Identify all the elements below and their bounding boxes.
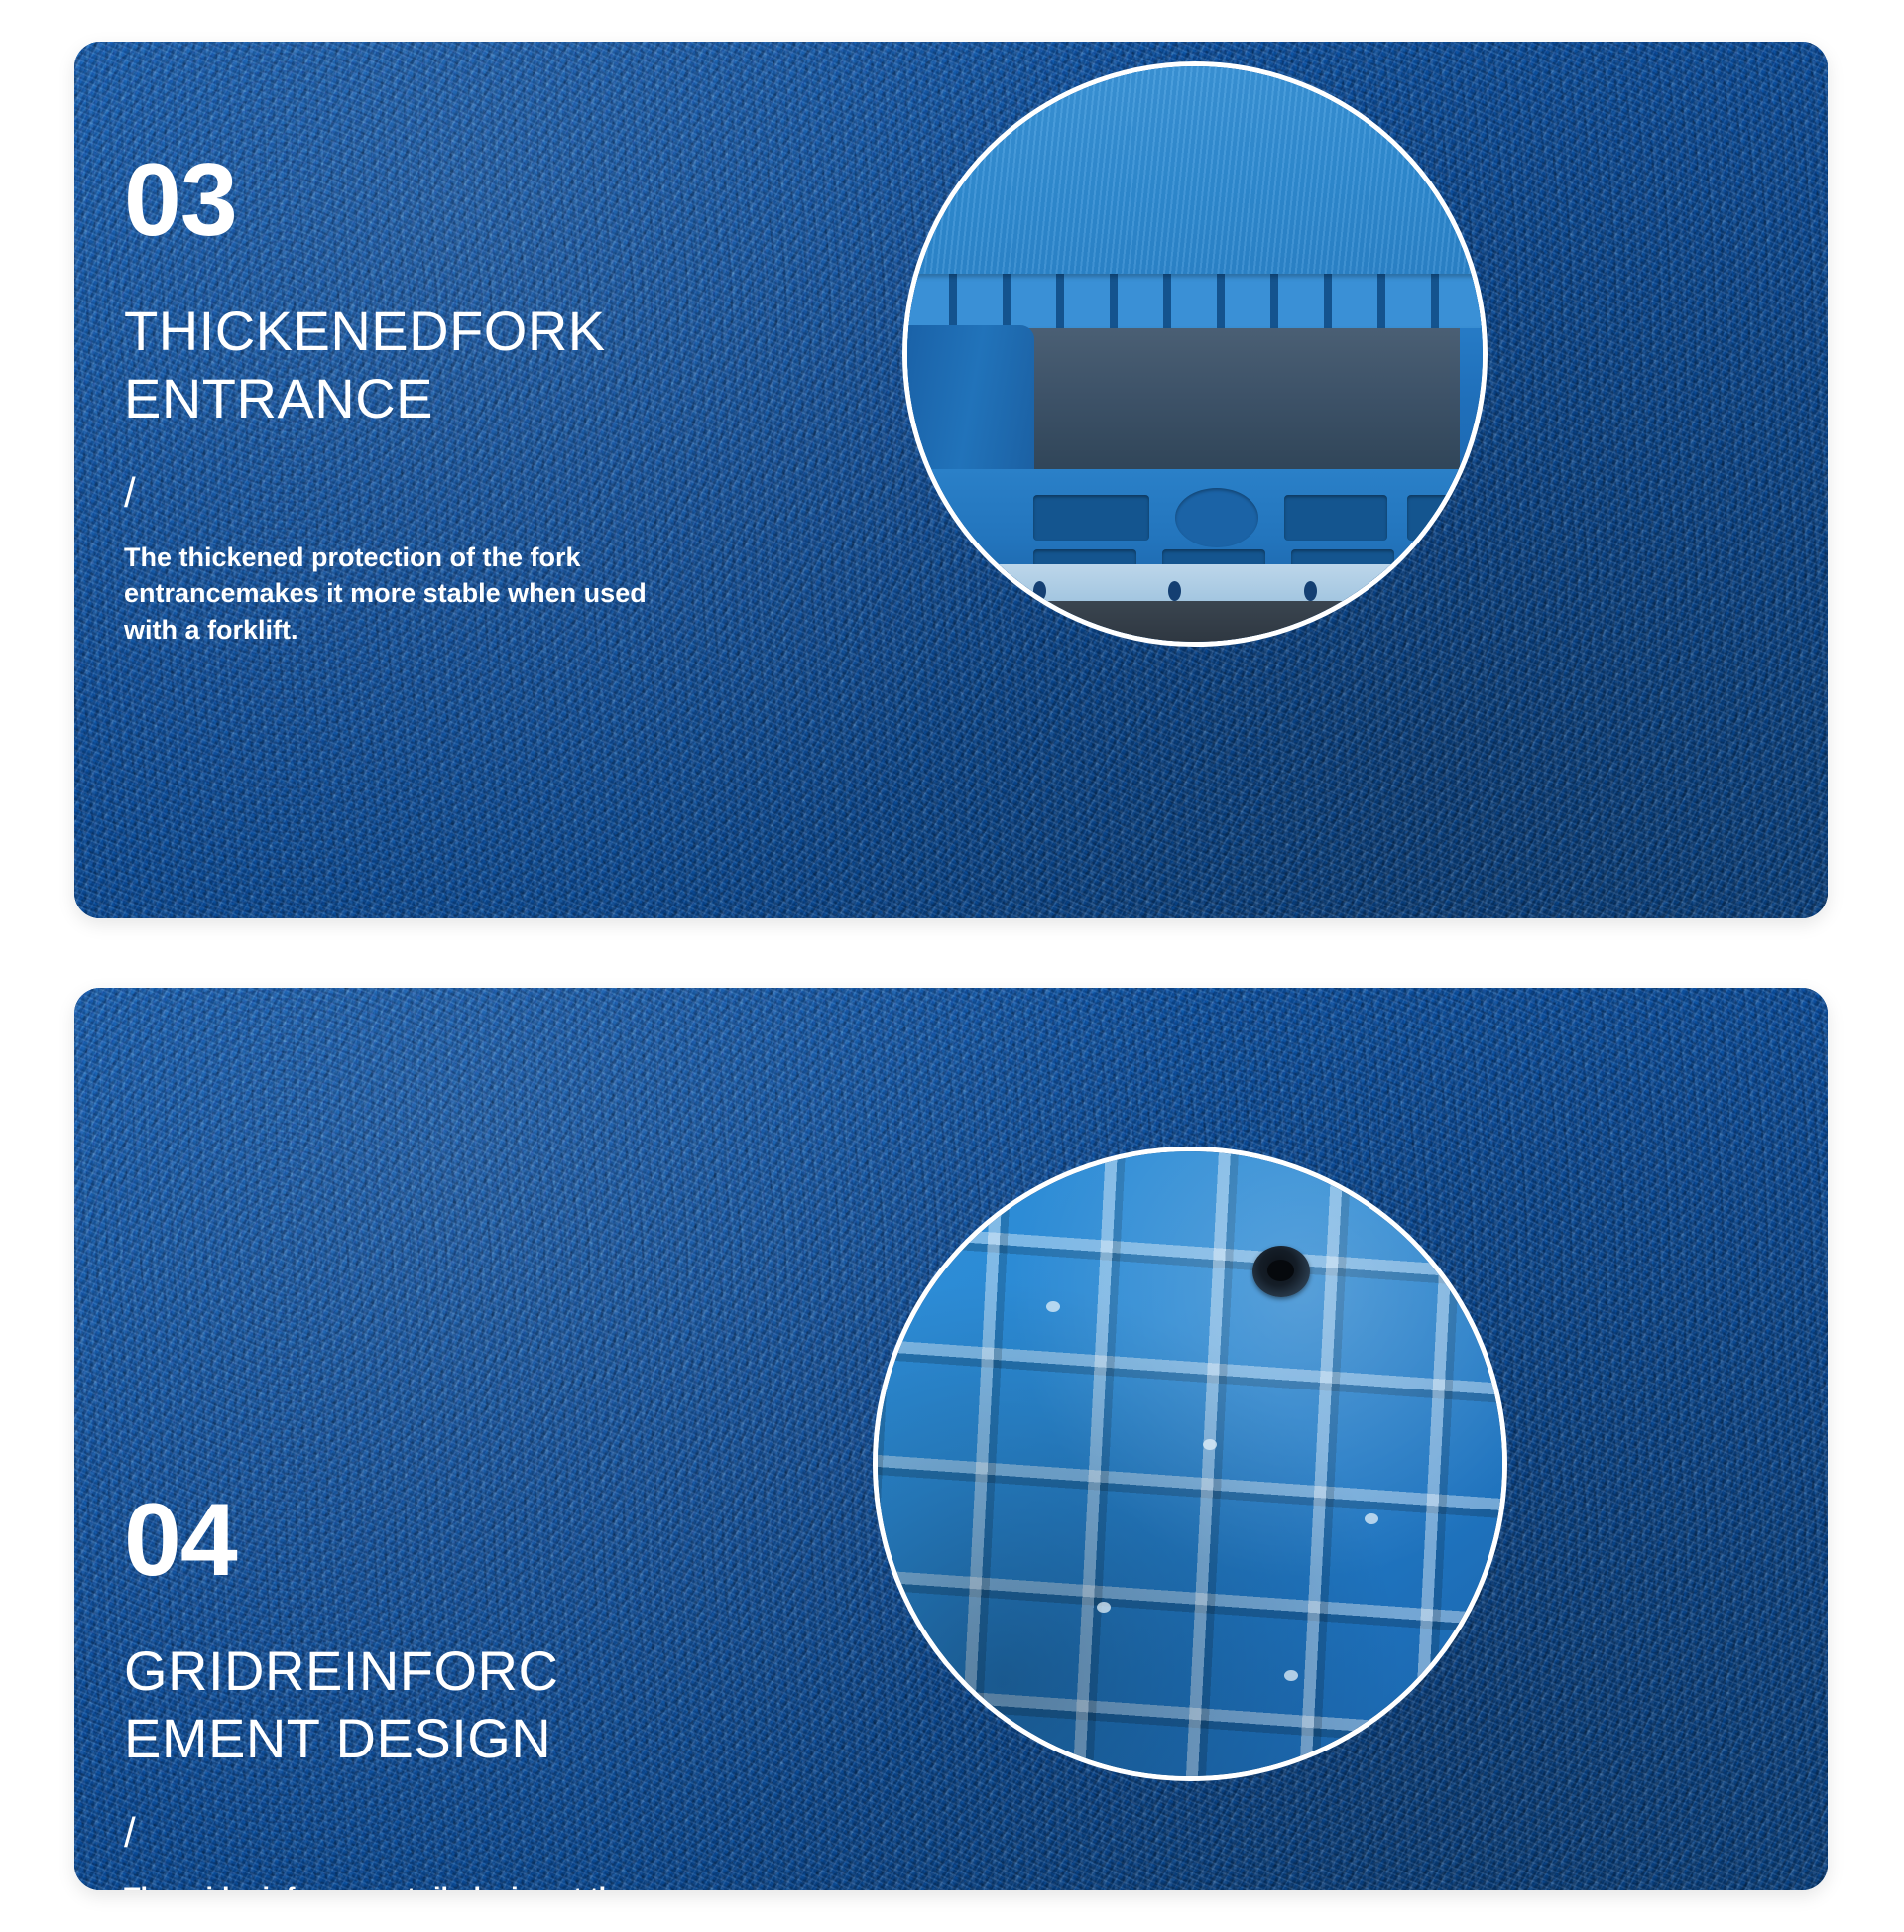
card-04-divider: / [124,1812,818,1854]
feature-card-04: 04 GRIDREINFORC EMENT DESIGN / The grid … [74,988,1828,1890]
bottom-bolt [1168,581,1181,601]
card-03-title: THICKENEDFORK ENTRANCE [124,298,719,432]
base-slot [1284,495,1387,541]
card-04-description: The grid reinforcement rib design at the… [124,1879,679,1891]
feature-cards-page: 03 THICKENEDFORK ENTRANCE / The thickene… [0,0,1904,1932]
bottom-bolt [1433,581,1446,601]
card-03-photo-circle [902,61,1487,647]
grid-lighting-shade [878,1151,1502,1776]
fork-entrance-photo [907,66,1483,642]
floor-ground [907,601,1483,642]
base-slot [1407,495,1483,541]
bottom-bolt [1033,581,1046,601]
grid-dot [1284,1670,1298,1681]
fork-entrance-cavity [1022,328,1460,478]
card-04-title: GRIDREINFORC EMENT DESIGN [124,1637,719,1772]
card-04-photo-circle [873,1147,1507,1781]
card-03-number: 03 [124,149,818,252]
card-03-text-block: 03 THICKENEDFORK ENTRANCE / The thickene… [124,149,818,649]
card-03-description: The thickened protection of the fork ent… [124,540,679,649]
card-03-divider: / [124,472,818,514]
grid-dot [1203,1439,1217,1450]
grid-dot [1097,1602,1111,1613]
base-diamond-emboss [1175,488,1258,547]
card-04-number: 04 [124,1489,818,1592]
pallet-rib-row [907,274,1483,328]
feature-card-03: 03 THICKENEDFORK ENTRANCE / The thickene… [74,42,1828,918]
grid-bolt-icon [1252,1246,1310,1297]
base-slot [1033,495,1149,541]
bottom-bolt [1304,581,1317,601]
grid-reinforcement-photo [878,1151,1502,1776]
pallet-deck-surface [907,66,1483,285]
card-04-text-block: 04 GRIDREINFORC EMENT DESIGN / The grid … [124,1489,818,1890]
